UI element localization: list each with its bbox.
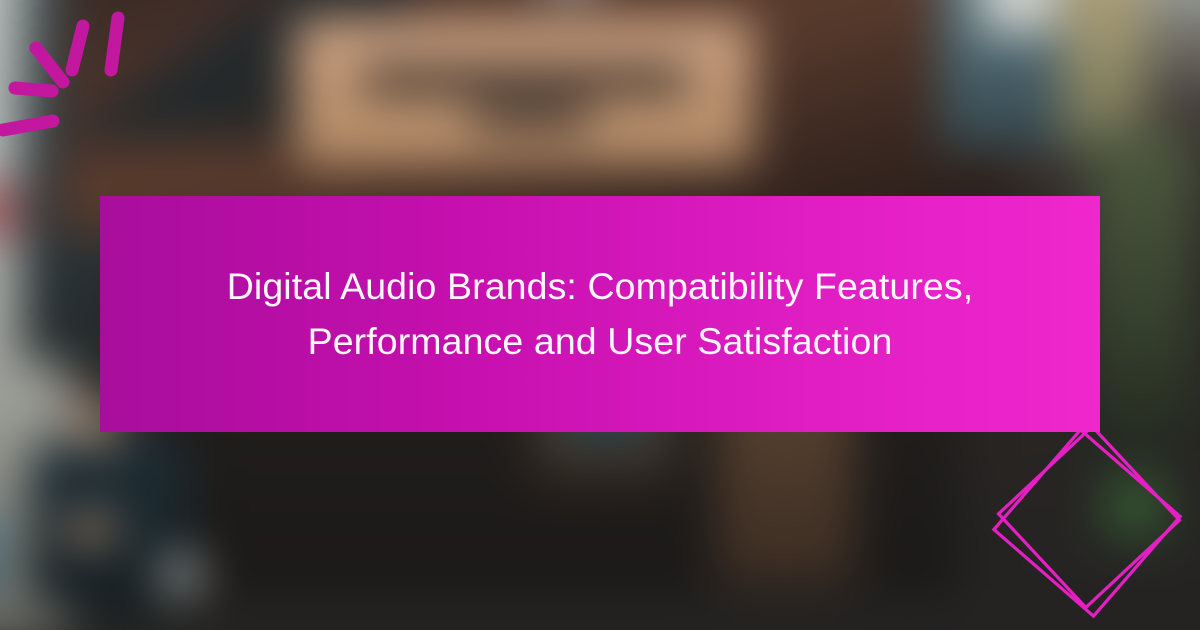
background-red-accent bbox=[0, 180, 23, 239]
background-person-hands bbox=[57, 513, 123, 547]
background-person-highlight bbox=[160, 554, 202, 596]
background-window bbox=[982, 0, 1056, 34]
rotated-squares-icon bbox=[985, 415, 1200, 630]
rotated-square-2 bbox=[994, 430, 1180, 616]
starburst-ray-2 bbox=[72, 26, 83, 70]
starburst-ray-5 bbox=[3, 121, 53, 130]
background-sign-text bbox=[360, 66, 689, 94]
rotated-square-1 bbox=[999, 427, 1180, 608]
starburst-ray-3 bbox=[36, 48, 63, 82]
page-title: Digital Audio Brands: Compatibility Feat… bbox=[227, 259, 974, 370]
starburst-ray-4 bbox=[15, 88, 52, 91]
social-share-card: Digital Audio Brands: Compatibility Feat… bbox=[0, 0, 1200, 630]
background-right-green bbox=[1088, 130, 1194, 448]
background-sign-subtext bbox=[473, 104, 590, 129]
starburst-ray-1 bbox=[111, 18, 118, 70]
background-right-tan bbox=[1061, 0, 1146, 151]
title-banner: Digital Audio Brands: Compatibility Feat… bbox=[100, 196, 1100, 432]
starburst-icon bbox=[0, 0, 150, 150]
